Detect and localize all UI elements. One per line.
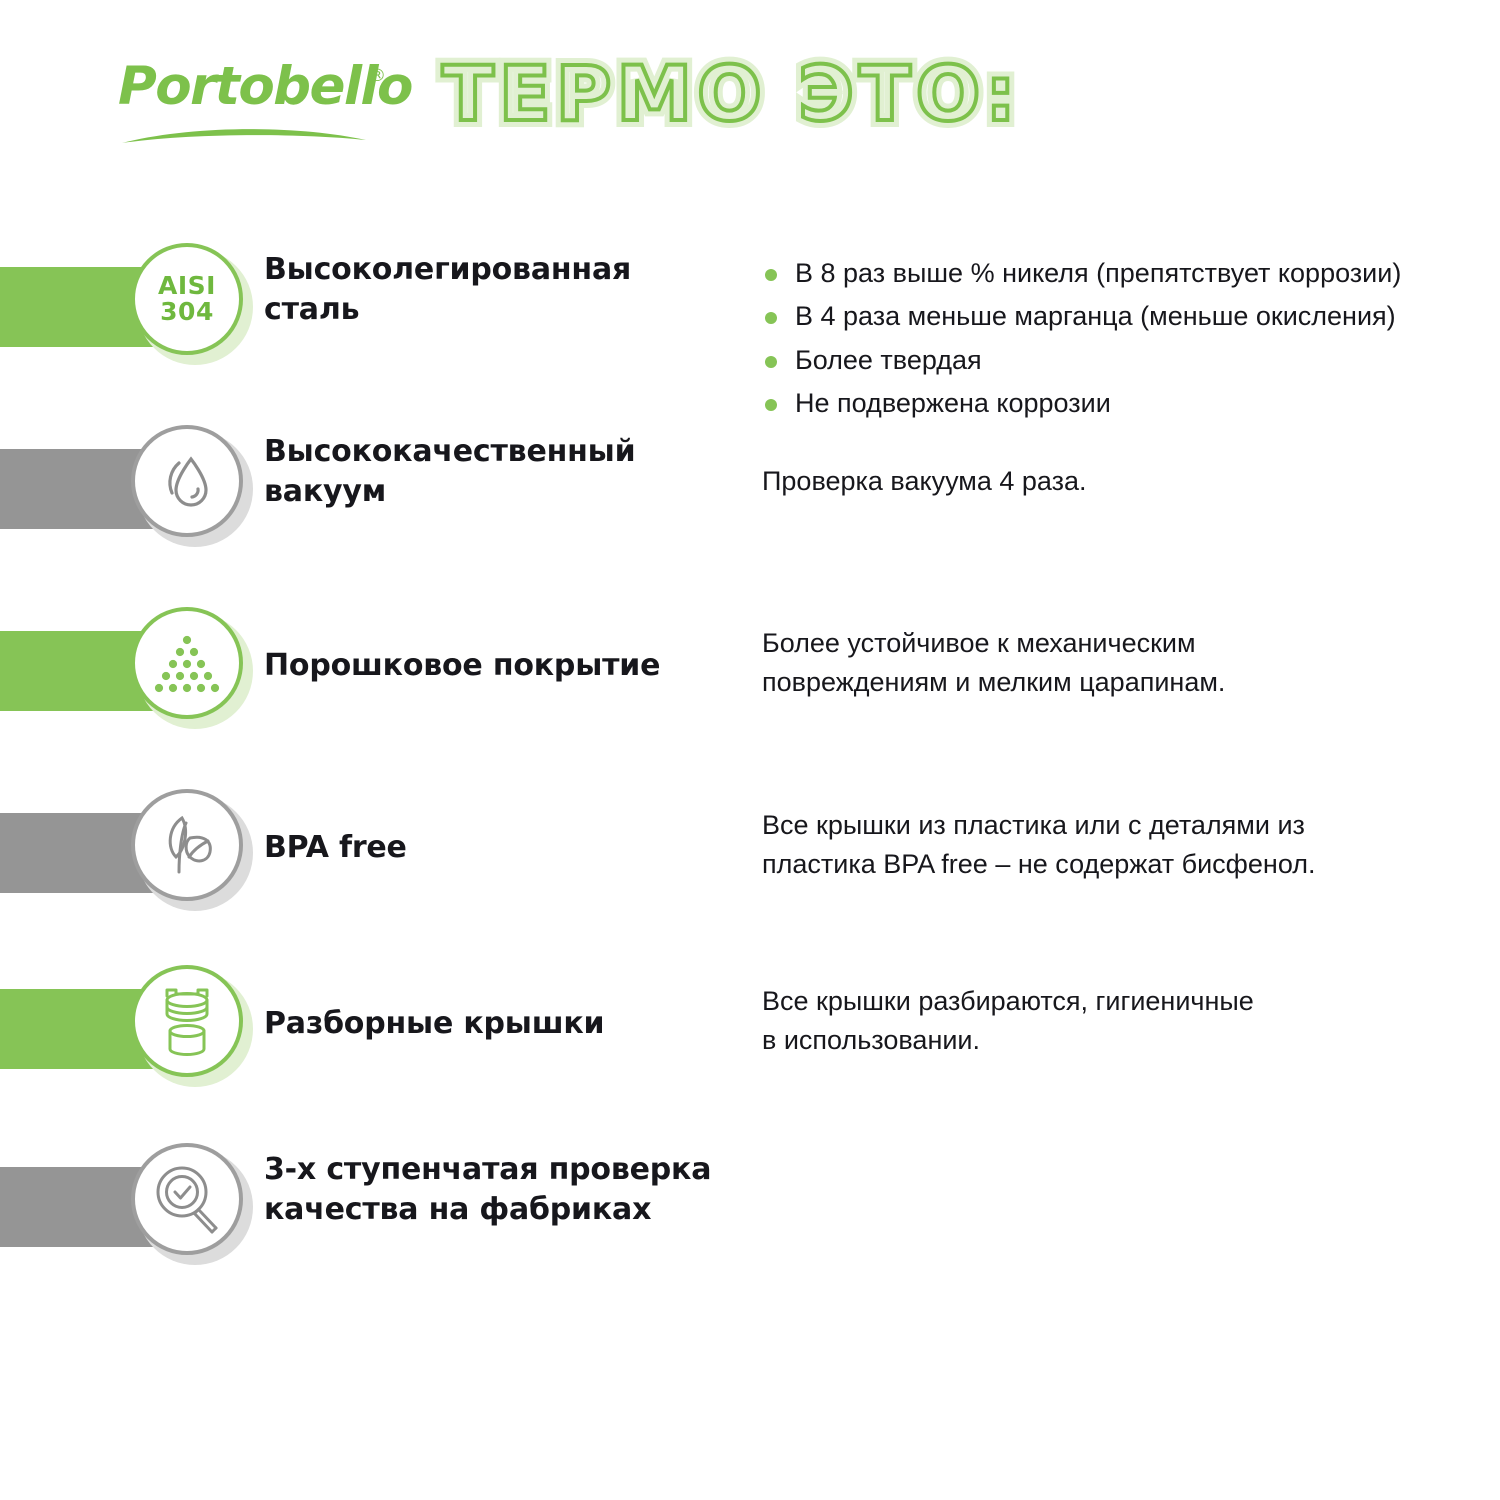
feature-title: Порошковое покрытие <box>264 646 660 686</box>
detachable-lid-icon <box>131 965 243 1077</box>
feature-title: 3-х ступенчатая проверка качества на фаб… <box>264 1150 711 1230</box>
list-item: Более твердая <box>762 341 1401 380</box>
feature-badge: AISI 304 <box>131 232 255 382</box>
aisi-304-badge-icon: AISI 304 <box>131 243 243 355</box>
portobello-logo: Portobello ® <box>118 60 388 156</box>
feature-row-detachable-lids: Разборные крышки Все крышки разбираются,… <box>0 954 1500 1104</box>
feature-badge <box>131 414 255 564</box>
feature-description: Все крышки из пластика или с деталями из… <box>762 806 1316 884</box>
infographic-page: Portobello ® ТЕРМО ЭТО: ТЕРМО ЭТО: AISI … <box>0 0 1500 1500</box>
feature-title: BPA free <box>264 828 407 868</box>
feature-badge <box>131 596 255 746</box>
powder-dots-icon <box>131 607 243 719</box>
page-header: Portobello ® ТЕРМО ЭТО: ТЕРМО ЭТО: <box>0 52 1500 172</box>
registered-trademark-icon: ® <box>369 66 386 86</box>
page-title: ТЕРМО ЭТО: <box>442 56 1021 132</box>
feature-badge <box>131 1132 255 1282</box>
feature-badge <box>131 954 255 1104</box>
feature-title: Высококачественный вакуум <box>264 432 635 512</box>
feature-title: Высоколегированная сталь <box>264 250 631 330</box>
list-item: В 8 раз выше % никеля (препятствует корр… <box>762 254 1401 293</box>
feature-row-quality-check: 3-х ступенчатая проверка качества на фаб… <box>0 1132 1500 1282</box>
list-item: В 4 раза меньше марганца (меньше окислен… <box>762 297 1401 336</box>
feature-row-steel: AISI 304 Высоколегированная сталь В 8 ра… <box>0 232 1500 382</box>
feature-bullet-list: В 8 раз выше % никеля (препятствует корр… <box>762 254 1401 428</box>
feature-row-vacuum: Высококачественный вакуум Проверка вакуу… <box>0 414 1500 564</box>
feature-title: Разборные крышки <box>264 1004 604 1044</box>
feature-badge <box>131 778 255 928</box>
water-droplet-icon <box>131 425 243 537</box>
badge-line-2: 304 <box>158 299 216 325</box>
feature-description: Более устойчивое к механическим поврежде… <box>762 624 1225 702</box>
badge-line-1: AISI <box>158 273 216 299</box>
feature-row-bpa-free: BPA free Все крышки из пластика или с де… <box>0 778 1500 928</box>
feature-row-powder-coating: Порошковое покрытие Более устойчивое к м… <box>0 596 1500 746</box>
logo-wordmark: Portobello <box>118 60 388 113</box>
logo-swoosh-icon <box>122 122 366 144</box>
feature-description: Проверка вакуума 4 раза. <box>762 462 1087 501</box>
leaf-icon <box>131 789 243 901</box>
feature-description: Все крышки разбираются, гигиеничные в ис… <box>762 982 1254 1060</box>
magnifier-check-icon <box>131 1143 243 1255</box>
